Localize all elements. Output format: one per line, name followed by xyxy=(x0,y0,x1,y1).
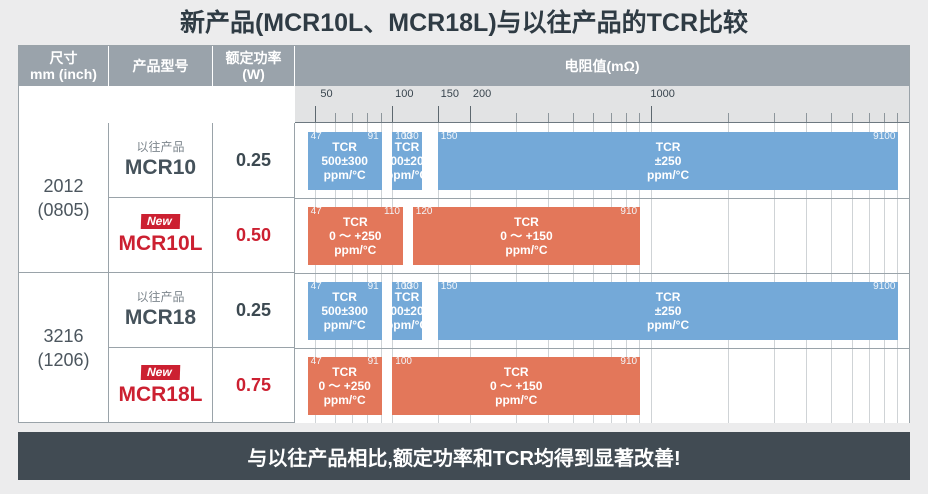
model-name: MCR10L xyxy=(118,232,202,256)
bar-left-value: 47 xyxy=(311,281,322,293)
bar-tcr-label: TCR xyxy=(504,365,529,379)
axis-tick-minor xyxy=(897,113,898,122)
model-name: MCR18 xyxy=(125,306,196,330)
axis-tick-major xyxy=(470,106,471,122)
bar-tcr-label: TCR xyxy=(332,290,357,304)
bottom-banner: 与以往产品相比,额定功率和TCR均得到显著改善! xyxy=(18,432,910,480)
bar-tcr-value: 500±300 xyxy=(321,304,368,318)
header-cell-model: 产品型号 xyxy=(109,46,213,86)
tcr-range-bar: 1509100TCR±250ppm/°C xyxy=(438,132,899,190)
infographic-page: 新产品(MCR10L、MCR18L)与以往产品的TCR比较 尺寸 mm (inc… xyxy=(0,0,928,494)
axis-tick-minor xyxy=(593,113,594,122)
header-cell-power: 额定功率 (W) xyxy=(213,46,295,86)
bar-right-value: 91 xyxy=(368,281,379,293)
axis-tick-minor xyxy=(611,113,612,122)
header-power-line1: 额定功率 xyxy=(226,50,282,66)
tcr-range-bar: 4791TCR0 ～ +250ppm/°C xyxy=(308,357,382,415)
model-name: MCR18L xyxy=(118,383,202,407)
bar-tcr-unit: ppm/°C xyxy=(647,318,689,332)
bar-tcr-unit: ppm/°C xyxy=(495,393,537,407)
power-value: 0.25 xyxy=(236,150,271,171)
axis-tick-minor xyxy=(869,113,870,122)
new-badge: New xyxy=(141,365,180,380)
bar-left-value: 47 xyxy=(311,131,322,143)
axis-tick-major xyxy=(392,106,393,122)
bar-tcr-value: ±250 xyxy=(655,304,682,318)
chart-row: 4791TCR0 ～ +250ppm/°C100910TCR0 ～ +150pp… xyxy=(295,348,909,423)
axis-tick-label: 50 xyxy=(320,88,332,100)
chart-row: 4791TCR500±300ppm/°C100130TCR400±200ppm/… xyxy=(295,273,909,348)
bar-tcr-unit: ppm/°C xyxy=(386,168,428,182)
resistance-axis: 501001502001000 xyxy=(295,86,909,123)
size-text: 2012(0805) xyxy=(37,174,89,222)
header-size-line2: mm (inch) xyxy=(30,66,97,82)
bar-tcr-label: TCR xyxy=(656,290,681,304)
model-name: MCR10 xyxy=(125,156,196,180)
bar-right-value: 91 xyxy=(368,356,379,368)
column-model: 以往产品MCR10NewMCR10L以往产品MCR18NewMCR18L xyxy=(109,123,213,423)
axis-tick-minor xyxy=(806,113,807,122)
bar-right-value: 9100 xyxy=(873,131,895,143)
bar-left-value: 150 xyxy=(441,281,458,293)
size-group-cell: 2012(0805) xyxy=(19,123,108,273)
model-cell: NewMCR18L xyxy=(109,348,212,423)
power-value: 0.75 xyxy=(236,375,271,396)
tcr-range-bar: 100130TCR400±200ppm/°C xyxy=(392,282,421,340)
bar-tcr-value: 400±200 xyxy=(384,304,431,318)
axis-tick-minor xyxy=(852,113,853,122)
chart-row: 47110TCR0 ～ +250ppm/°C120910TCR0 ～ +150p… xyxy=(295,198,909,273)
axis-tick-minor xyxy=(516,113,517,122)
tcr-range-bar: 100130TCR400±200ppm/°C xyxy=(392,132,421,190)
axis-tick-major xyxy=(438,106,439,122)
tcr-range-bar: 4791TCR500±300ppm/°C xyxy=(308,132,382,190)
new-badge: New xyxy=(141,214,180,229)
axis-tick-label: 150 xyxy=(441,88,459,100)
table-header-row: 尺寸 mm (inch) 产品型号 额定功率 (W) 电阻值(mΩ) xyxy=(19,46,909,86)
axis-tick-minor xyxy=(367,113,368,122)
tcr-range-bar: 120910TCR0 ～ +150ppm/°C xyxy=(413,207,640,265)
header-size-line1: 尺寸 xyxy=(50,50,78,66)
chart-row: 4791TCR500±300ppm/°C100130TCR400±200ppm/… xyxy=(295,123,909,198)
bar-tcr-unit: ppm/°C xyxy=(386,318,428,332)
bar-left-value: 120 xyxy=(416,206,433,218)
bar-tcr-value: 0 ～ +150 xyxy=(490,379,542,393)
axis-tick-minor xyxy=(884,113,885,122)
axis-tick-minor xyxy=(639,113,640,122)
bar-tcr-value: 400±200 xyxy=(384,154,431,168)
bar-right-value: 110 xyxy=(384,206,400,218)
bar-tcr-label: TCR xyxy=(332,140,357,154)
comparison-table: 尺寸 mm (inch) 产品型号 额定功率 (W) 电阻值(mΩ) 50100… xyxy=(18,45,910,423)
tcr-range-bar: 100910TCR0 ～ +150ppm/°C xyxy=(392,357,640,415)
bar-tcr-label: TCR xyxy=(332,365,357,379)
axis-tick-minor xyxy=(548,113,549,122)
bar-right-value: 910 xyxy=(620,206,637,218)
axis-tick-minor xyxy=(352,113,353,122)
size-line2: (1206) xyxy=(37,348,89,372)
axis-tick-minor xyxy=(831,113,832,122)
tcr-range-bar: 1509100TCR±250ppm/°C xyxy=(438,282,899,340)
bar-tcr-value: 0 ～ +250 xyxy=(329,229,381,243)
legacy-tag: 以往产品 xyxy=(136,140,184,155)
header-cell-size: 尺寸 mm (inch) xyxy=(19,46,109,86)
bar-left-value: 100 xyxy=(395,356,412,368)
bar-right-value: 9100 xyxy=(873,281,895,293)
size-line1: 3216 xyxy=(37,324,89,348)
bar-tcr-value: 0 ～ +150 xyxy=(500,229,552,243)
tcr-chart-plot: 4791TCR500±300ppm/°C100130TCR400±200ppm/… xyxy=(295,123,909,423)
size-group-cell: 3216(1206) xyxy=(19,273,108,423)
legacy-tag: 以往产品 xyxy=(136,290,184,305)
axis-tick-minor xyxy=(728,113,729,122)
bar-tcr-label: TCR xyxy=(514,215,539,229)
axis-tick-minor xyxy=(626,113,627,122)
power-cell: 0.25 xyxy=(213,273,294,348)
bar-tcr-value: 500±300 xyxy=(321,154,368,168)
axis-tick-major xyxy=(651,106,652,122)
bar-tcr-value: 0 ～ +250 xyxy=(318,379,370,393)
bar-left-value: 47 xyxy=(311,206,322,218)
column-power: 0.250.500.250.75 xyxy=(213,123,295,423)
axis-tick-label: 100 xyxy=(395,88,413,100)
bar-tcr-label: TCR xyxy=(656,140,681,154)
power-value: 0.25 xyxy=(236,300,271,321)
bar-tcr-unit: ppm/°C xyxy=(647,168,689,182)
size-line1: 2012 xyxy=(37,174,89,198)
bar-tcr-unit: ppm/°C xyxy=(334,243,376,257)
axis-tick-label: 1000 xyxy=(650,88,674,100)
axis-tick-minor xyxy=(573,113,574,122)
power-value: 0.50 xyxy=(236,225,271,246)
bar-right-value: 130 xyxy=(402,281,419,293)
bar-left-value: 150 xyxy=(441,131,458,143)
power-cell: 0.75 xyxy=(213,348,294,423)
bar-right-value: 91 xyxy=(368,131,379,143)
bar-right-value: 910 xyxy=(620,356,637,368)
bar-tcr-unit: ppm/°C xyxy=(324,168,366,182)
bar-tcr-label: TCR xyxy=(343,215,368,229)
header-power-line2: (W) xyxy=(242,66,265,82)
bar-tcr-value: ±250 xyxy=(655,154,682,168)
header-cell-resistance: 电阻值(mΩ) xyxy=(295,46,909,86)
header-resistance-label: 电阻值(mΩ) xyxy=(565,58,640,74)
axis-tick-major xyxy=(315,106,316,122)
bar-tcr-unit: ppm/°C xyxy=(505,243,547,257)
size-text: 3216(1206) xyxy=(37,324,89,372)
model-cell: NewMCR10L xyxy=(109,198,212,273)
bar-right-value: 130 xyxy=(402,131,419,143)
axis-tick-minor xyxy=(381,113,382,122)
power-cell: 0.50 xyxy=(213,198,294,273)
header-model-label: 产品型号 xyxy=(133,58,189,74)
axis-tick-minor xyxy=(335,113,336,122)
axis-tick-minor xyxy=(774,113,775,122)
tcr-range-bar: 4791TCR500±300ppm/°C xyxy=(308,282,382,340)
size-line2: (0805) xyxy=(37,198,89,222)
model-cell: 以往产品MCR18 xyxy=(109,273,212,348)
model-cell: 以往产品MCR10 xyxy=(109,123,212,198)
tcr-range-bar: 47110TCR0 ～ +250ppm/°C xyxy=(308,207,403,265)
column-size: 2012(0805)3216(1206) xyxy=(19,123,109,423)
power-cell: 0.25 xyxy=(213,123,294,198)
axis-tick-label: 200 xyxy=(473,88,491,100)
bar-left-value: 47 xyxy=(311,356,322,368)
page-title: 新产品(MCR10L、MCR18L)与以往产品的TCR比较 xyxy=(0,6,928,40)
bar-tcr-unit: ppm/°C xyxy=(324,393,366,407)
bar-tcr-unit: ppm/°C xyxy=(324,318,366,332)
